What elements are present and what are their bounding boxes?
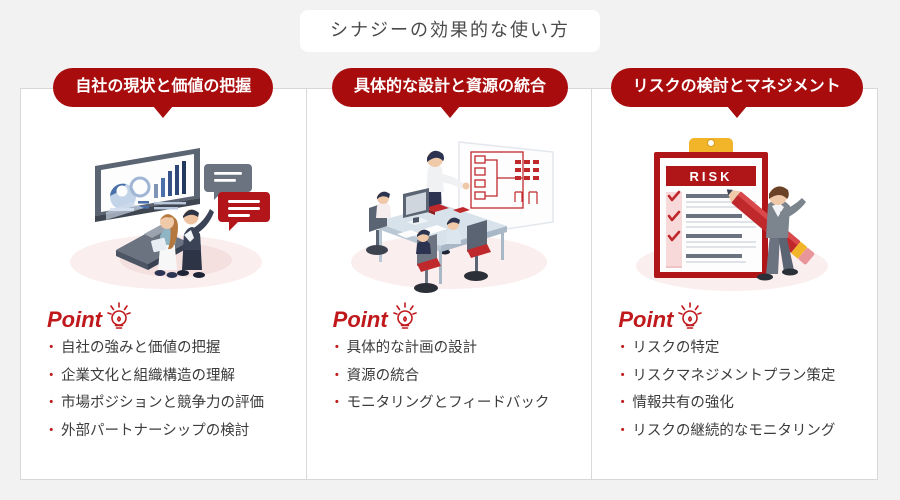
list-item: 市場ポジションと競争力の評価 (47, 396, 306, 411)
point-list-3: リスクの特定 リスクマネジメントプラン策定 情報共有の強化 リスクの継続的なモニ… (618, 341, 877, 438)
office-meeting-whiteboard-illustration (307, 127, 592, 302)
header-pill-design-integration[interactable]: 具体的な設計と資源の統合 (332, 68, 568, 107)
header-pill-current-state[interactable]: 自社の現状と価値の把握 (53, 68, 273, 107)
column-risk-management: RISK (591, 89, 877, 479)
illustration-2-svg (329, 130, 569, 300)
column-current-state: Point (21, 89, 306, 479)
point-block-2: Point (307, 302, 592, 424)
list-item: リスクの特定 (618, 341, 877, 356)
header-pill-risk-management[interactable]: リスクの検討とマネジメント (611, 68, 863, 107)
point-header-1: Point (47, 302, 306, 331)
point-block-1: Point (21, 302, 306, 451)
list-item: リスクマネジメントプラン策定 (618, 369, 877, 384)
point-label: Point (47, 309, 102, 331)
list-item: リスクの継続的なモニタリング (618, 424, 877, 439)
lightbulb-icon (106, 302, 132, 330)
point-list-2: 具体的な計画の設計 資源の統合 モニタリングとフィードバック (333, 341, 592, 411)
point-list-1: 自社の強みと価値の把握 企業文化と組織構造の理解 市場ポジションと競争力の評価 … (47, 341, 306, 438)
column-design-integration: Point (306, 89, 592, 479)
dashboard-monitor-team-illustration (21, 127, 306, 302)
lightbulb-icon (392, 302, 418, 330)
risk-clipboard-checklist-illustration: RISK (592, 127, 877, 302)
point-header-3: Point (618, 302, 877, 331)
page-title-wrapper: シナジーの効果的な使い方 (0, 10, 900, 52)
list-item: モニタリングとフィードバック (333, 396, 592, 411)
columns-board: Point (20, 88, 878, 480)
list-item: 外部パートナーシップの検討 (47, 424, 306, 439)
list-item: 企業文化と組織構造の理解 (47, 369, 306, 384)
point-label: Point (618, 309, 673, 331)
list-item: 資源の統合 (333, 369, 592, 384)
page-title: シナジーの効果的な使い方 (300, 10, 600, 52)
point-header-2: Point (333, 302, 592, 331)
illustration-1-svg (48, 130, 278, 300)
point-label: Point (333, 309, 388, 331)
illustration-3-svg: RISK (620, 130, 850, 300)
point-block-3: Point (592, 302, 877, 451)
infographic-page: シナジーの効果的な使い方 (0, 0, 900, 500)
list-item: 情報共有の強化 (618, 396, 877, 411)
clipboard-title-text: RISK (689, 169, 732, 184)
list-item: 具体的な計画の設計 (333, 341, 592, 356)
list-item: 自社の強みと価値の把握 (47, 341, 306, 356)
lightbulb-icon (677, 302, 703, 330)
